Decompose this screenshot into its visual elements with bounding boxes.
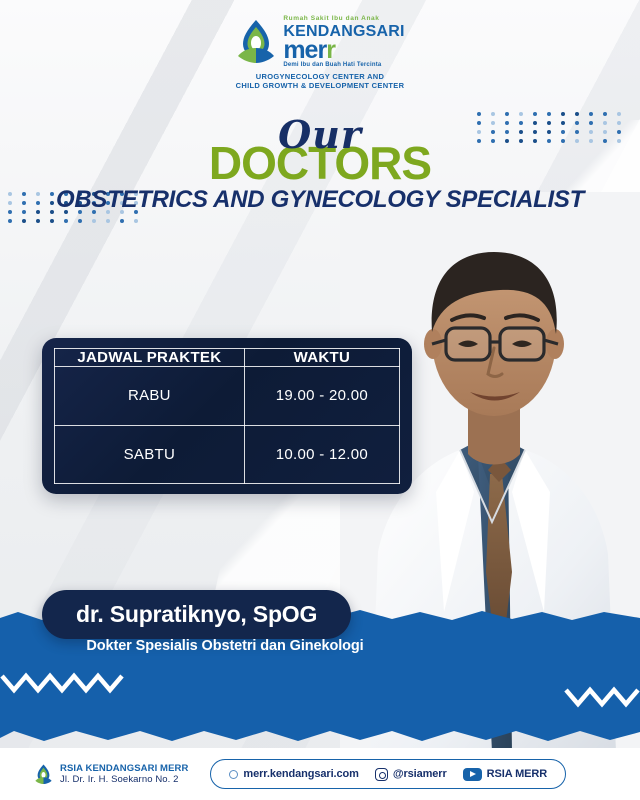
day-cell: RABU [55, 367, 245, 426]
time-cell: 19.00 - 20.00 [244, 367, 399, 426]
footer-website[interactable]: merr.kendangsari.com [229, 768, 358, 780]
youtube-label: RSIA MERR [487, 768, 547, 780]
footer-contact-pill: merr.kendangsari.com @rsiamerr RSIA MERR [210, 759, 566, 789]
instagram-label: @rsiamerr [393, 768, 447, 780]
table-row: RABU 19.00 - 20.00 [55, 367, 400, 426]
header-logo: Rumah Sakit Ibu dan Anak KENDANGSARI mer… [0, 16, 640, 91]
center-line-2: CHILD GROWTH & DEVELOPMENT CENTER [236, 81, 405, 90]
footer-hospital-block: RSIA KENDANGSARI MERR Jl. Dr. Ir. H. Soe… [34, 763, 188, 786]
schedule-table: JADWAL PRAKTEK WAKTU RABU 19.00 - 20.00 … [54, 348, 400, 484]
website-label: merr.kendangsari.com [243, 768, 358, 780]
center-line-1: UROGYNECOLOGY CENTER AND [236, 72, 405, 81]
table-header-row: JADWAL PRAKTEK WAKTU [55, 349, 400, 367]
center-designation: UROGYNECOLOGY CENTER AND CHILD GROWTH & … [236, 72, 405, 91]
footer-instagram[interactable]: @rsiamerr [375, 768, 447, 781]
footer-logo-icon [34, 763, 53, 786]
footer-address: Jl. Dr. Ir. H. Soekarno No. 2 [60, 774, 188, 785]
youtube-icon [463, 768, 482, 781]
poster: Rumah Sakit Ibu dan Anak KENDANGSARI mer… [0, 0, 640, 800]
footer-youtube[interactable]: RSIA MERR [463, 768, 547, 781]
schedule-card: JADWAL PRAKTEK WAKTU RABU 19.00 - 20.00 … [42, 338, 412, 494]
logo-name-merr: merr [283, 40, 404, 61]
kendangsari-logo-icon [235, 18, 277, 66]
instagram-icon [375, 768, 388, 781]
day-cell: SABTU [55, 425, 245, 484]
doctor-specialty: Dokter Spesialis Obstetri dan Ginekologi [0, 638, 450, 654]
logo-tagline-top: Rumah Sakit Ibu dan Anak [283, 16, 404, 23]
header-jadwal: JADWAL PRAKTEK [55, 349, 245, 367]
title-script: Our [0, 112, 640, 157]
footer-hospital-name: RSIA KENDANGSARI MERR [60, 763, 188, 774]
header-waktu: WAKTU [244, 349, 399, 367]
doctor-name-pill: dr. Supratiknyo, SpOG [42, 590, 351, 639]
table-row: SABTU 10.00 - 12.00 [55, 425, 400, 484]
title-subtitle: OBSTETRICS AND GYNECOLOGY SPECIALIST [0, 186, 640, 214]
footer-bar: RSIA KENDANGSARI MERR Jl. Dr. Ir. H. Soe… [0, 748, 640, 800]
time-cell: 10.00 - 12.00 [244, 425, 399, 484]
globe-icon [229, 770, 238, 779]
